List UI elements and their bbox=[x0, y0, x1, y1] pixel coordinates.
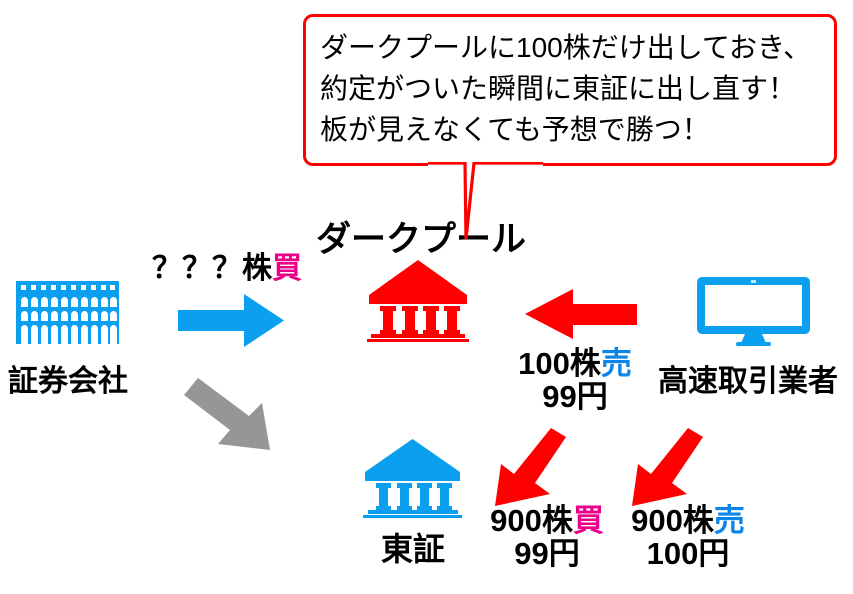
red-left-arrow bbox=[525, 289, 637, 339]
bank-building-icon-tse bbox=[363, 437, 462, 518]
speech-bubble-text: ダークプールに100株だけ出しておき、 約定がついた瞬間に東証に出し直す！ 板が… bbox=[320, 27, 826, 150]
diagram-canvas: ダークプールに100株だけ出しておき、 約定がついた瞬間に東証に出し直す！ 板が… bbox=[0, 0, 853, 594]
speech-bubble-line-1: ダークプールに100株だけ出しておき、 bbox=[320, 27, 826, 68]
speech-bubble-line-2: 約定がついた瞬間に東証に出し直す！ bbox=[320, 68, 826, 109]
tse-label: 東証 bbox=[358, 524, 468, 570]
speech-bubble-line-3: 板が見えなくても予想で勝つ！ bbox=[320, 109, 826, 150]
speech-bubble: ダークプールに100株だけ出しておき、 約定がついた瞬間に東証に出し直す！ 板が… bbox=[303, 14, 837, 166]
blue-right-arrow bbox=[178, 294, 284, 347]
speech-bubble-tail bbox=[425, 160, 555, 240]
bank-building-icon-dark-pool bbox=[367, 258, 469, 342]
monitor-icon-hft bbox=[697, 277, 810, 346]
hft-darkpool-side: 売 bbox=[601, 346, 632, 381]
hft-tse-buy-price: 99円 bbox=[472, 538, 622, 571]
colosseum-building-icon-broker bbox=[16, 281, 119, 344]
broker-label: 証券会社 bbox=[8, 356, 128, 400]
hft-darkpool-order: 100株売 99円 bbox=[495, 348, 655, 413]
hft-tse-sell-side: 売 bbox=[714, 503, 745, 538]
red-diagonal-arrow-buy bbox=[490, 428, 566, 506]
hft-tse-buy-qty: 900株 bbox=[490, 503, 573, 538]
hft-darkpool-order-line-1: 100株売 bbox=[495, 348, 655, 381]
hft-tse-sell-qty: 900株 bbox=[631, 503, 714, 538]
hft-darkpool-price: 99円 bbox=[495, 381, 655, 414]
broker-order-side: 買 bbox=[272, 252, 302, 285]
red-diagonal-arrow-sell bbox=[627, 428, 703, 506]
hft-darkpool-qty: 100株 bbox=[518, 346, 601, 381]
hft-tse-sell-line-1: 900株売 bbox=[608, 505, 768, 538]
broker-order-qty: ？？？株 bbox=[152, 252, 272, 285]
broker-order-text: ？？？株買 bbox=[152, 253, 302, 285]
hft-tse-sell-price: 100円 bbox=[608, 538, 768, 571]
hft-tse-sell-order: 900株売 100円 bbox=[608, 505, 768, 570]
hft-tse-buy-line-1: 900株買 bbox=[472, 505, 622, 538]
hft-tse-buy-side: 買 bbox=[573, 503, 604, 538]
hft-label: 高速取引業者 bbox=[645, 356, 851, 400]
gray-diagonal-arrow bbox=[184, 378, 282, 450]
hft-tse-buy-order: 900株買 99円 bbox=[472, 505, 622, 570]
